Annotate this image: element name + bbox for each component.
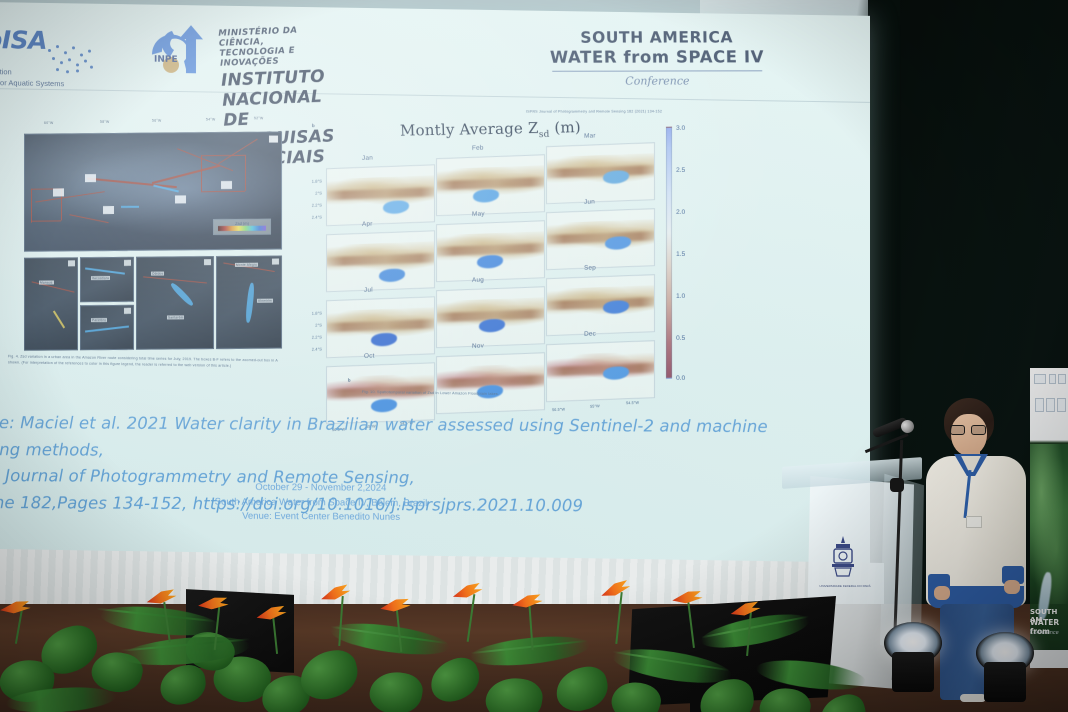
conference-rule [552,70,762,71]
stage-light-left [884,622,944,684]
month-label-apr: Apr [362,221,373,228]
month-label-oct: Oct [364,352,375,359]
month-label-mar: Mar [584,132,596,139]
monthly-chart-title-unit: (m) [549,118,581,137]
map-inset-d: Parintins [80,305,134,350]
month-panel-feb [436,154,545,216]
inset-label-c: Itacoatiara [91,276,110,280]
monthly-lon-tick-6: 54.5°W [626,401,639,405]
month-panel-nov [436,352,545,414]
podium-crest-caption: UNIVERSIDADE FEDERAL DO PARÁ [816,584,874,588]
month-label-jun: Jun [584,198,595,205]
map-lon-tick-3: 56°W [152,119,162,123]
microphone-clamp [890,478,904,492]
monthly-lat-tick-6: 2°S [306,322,322,328]
zsd-colorbar [666,127,672,379]
figure-panel-label-a: b [312,123,315,128]
month-label-sep: Sep [584,264,596,271]
inset-label-d: Parintins [91,318,107,322]
month-panel-aug [436,286,545,348]
event-venue: Venue: Event Center Benedito Nunes [156,510,486,527]
monthly-lon-tick-5: 55°W [590,404,600,408]
inset-label-f: Monte Alegre [235,263,258,267]
inset-label-e: Óbidos [151,272,164,276]
monthly-lat-tick-5: 1.8°S [306,310,322,316]
slide-event-details: October 29 - November 2,2024 South Ameri… [156,480,486,526]
month-label-dec: Dec [584,330,596,337]
figure-left-caption: Fig. 4. Zsd variation in a urban area in… [8,354,288,370]
inset-tag-e [204,259,211,265]
colorbar-tick-1-0: 1.0 [676,293,685,300]
month-label-feb: Feb [472,144,484,151]
map-inset-b: Manaus [24,257,78,350]
presenter-shoe [960,694,986,702]
monthly-lon-tick-4: 56.5°W [552,407,565,411]
month-label-may: May [472,210,485,217]
map-inset-f: Monte Alegre Almeirim [216,255,282,349]
month-label-aug: Aug [472,276,484,283]
map-lon-tick-2: 58°W [100,120,110,124]
inset-tag-b [68,260,75,266]
monthly-lat-tick-2: 2°S [306,190,322,196]
stage-light-right [976,632,1036,694]
monthly-lat-tick-3: 2.2°S [306,202,322,208]
colorbar-tick-2-0: 2.0 [676,209,685,216]
inset-tag-f [272,259,279,265]
figure-panel-label-b: b [348,378,351,383]
monthly-lat-tick-7: 2.2°S [306,334,322,340]
inset-tag-d [124,308,131,314]
banner-sponsor-logos [1032,372,1066,430]
journal-header: ISPRS Journal of Photogrammetry and Remo… [526,109,662,113]
projection-screen: labISA Instrumentation Laboratory for Aq… [0,2,870,572]
labisa-subtitle-line2: Laboratory for Aquatic Systems [0,77,100,90]
monthly-lat-tick-8: 2.4°S [306,346,322,352]
map-lon-tick-4: 54°W [206,117,216,121]
month-panel-jun [546,208,655,270]
monthly-chart-title: Montly Average Zsd (m) [400,118,582,142]
month-panel-mar [546,142,655,204]
monthly-lat-tick-1: 1.8°S [306,178,322,184]
month-label-nov: Nov [472,342,484,349]
inset-label-f2: Almeirim [257,299,273,303]
colorbar-tick-3-0: 3.0 [676,125,685,132]
colorbar-tick-2-5: 2.5 [676,167,685,174]
colorbar-tick-1-5: 1.5 [676,251,685,258]
monitor-stand [690,676,750,712]
inset-label-e2: Santarém [167,315,184,319]
presenter-hand-right [1004,580,1020,594]
month-panel-jul [326,296,435,358]
banner-landscape-photo [1030,444,1068,604]
map-lon-tick-1: 60°W [44,121,54,125]
presenter-glasses-icon [950,425,988,435]
map-inset-c: Itacoatiara [80,257,134,302]
map-inset-panels: Manaus Itacoatiara Parintins [24,255,282,350]
pa-speaker-box [186,589,294,673]
figure-left-map: 60°W 58°W 56°W 54°W 52°W [0,114,292,404]
map-lon-tick-5: 52°W [254,116,264,120]
inpe-arrow-icon: INPE [138,20,210,87]
map-inset-e: Óbidos Santarém [136,256,214,350]
inpe-ministry-line: MINISTÉRIO DA CIÊNCIA, TECNOLOGIA E INOV… [218,24,330,68]
colorbar-tick-0-0: 0.0 [676,375,685,382]
monthly-chart-title-main: Montly Average Z [400,119,539,140]
conference-line3: Conference [542,74,772,87]
amazon-satellite-map: Zsd (m) [24,131,282,251]
university-crest-icon [828,534,858,580]
labisa-dots-icon [46,43,100,76]
figure-right-monthly: ISPRS Journal of Photogrammetry and Remo… [304,107,724,414]
month-panel-apr [326,230,435,292]
svg-text:INPE: INPE [154,55,178,65]
map-colorbar-gradient [218,226,266,231]
inset-label-b: Manaus [39,280,54,284]
conference-logo: SOUTH AMERICA WATER from SPACE IV Confer… [542,28,773,87]
month-panel-may [436,220,545,282]
month-panel-jan [326,164,435,226]
monthly-lat-tick-4: 2.4°S [306,214,322,220]
month-panel-sep [546,274,655,336]
inset-tag-c [124,260,131,266]
month-panel-dec [546,340,655,402]
presenter-badge [966,516,982,528]
presenter-hand-left [934,586,950,600]
colorbar-tick-0-5: 0.5 [676,335,685,342]
slide-header-divider [0,88,870,103]
presentation-slide: labISA Instrumentation Laboratory for Aq… [0,2,870,572]
labisa-wordmark-text: labISA [0,25,47,55]
month-label-jan: Jan [362,155,373,162]
month-label-jul: Jul [364,287,373,294]
monthly-panel-grid: Jan Feb Mar Apr May Jun Jul Aug Sep Oct … [326,138,666,378]
conference-line1: SOUTH AMERICA [542,28,772,46]
conference-roll-up-banner: SOUTH AM WATER from Conference [1030,368,1068,668]
conference-photo-scene: labISA Instrumentation Laboratory for Aq… [0,0,1068,712]
map-colorbar: Zsd (m) [213,219,271,236]
citation-line-1: Source: Maciel et al. 2021 Water clarity… [0,410,782,468]
conference-line2: WATER from SPACE IV [542,47,772,66]
labisa-logo: labISA Instrumentation Laboratory for Aq… [0,24,100,91]
